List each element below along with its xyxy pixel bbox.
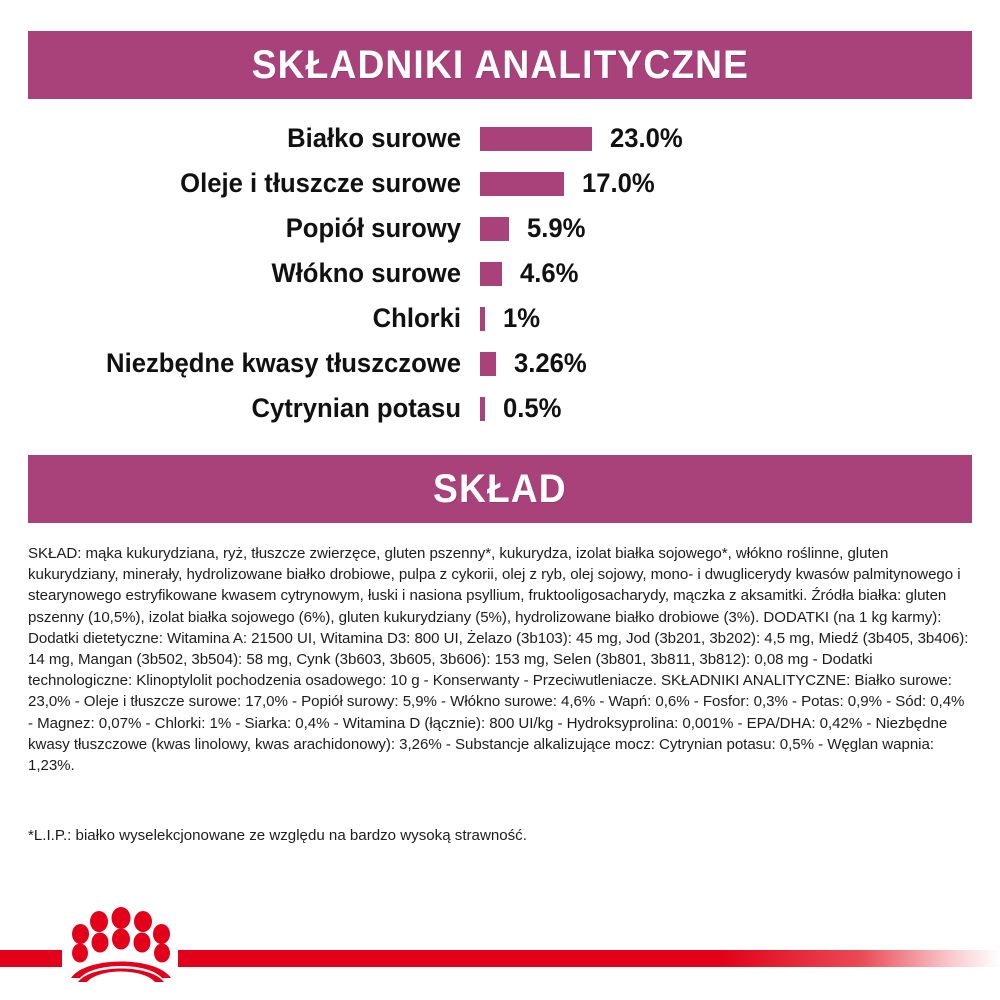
royal-canin-crown-icon <box>66 906 176 982</box>
chart-bar-container: 17.0% <box>480 168 1000 199</box>
brand-rule-left <box>0 950 62 967</box>
chart-row: Włókno surowe4.6% <box>0 251 1000 296</box>
analytical-constituents-title: SKŁADNIKI ANALITYCZNE <box>251 43 748 88</box>
chart-bar <box>480 397 485 421</box>
chart-row-value: 0.5% <box>503 393 561 424</box>
product-info-page: SKŁADNIKI ANALITYCZNE Białko surowe23.0%… <box>0 0 1000 1000</box>
chart-row: Oleje i tłuszcze surowe17.0% <box>0 161 1000 206</box>
chart-row-value: 1% <box>503 303 540 334</box>
chart-row: Popiół surowy5.9% <box>0 206 1000 251</box>
composition-footnote: *L.I.P.: białko wyselekcjonowane ze wzgl… <box>28 825 972 846</box>
chart-row-value: 23.0% <box>610 123 683 154</box>
chart-row-value: 4.6% <box>520 258 578 289</box>
brand-rule-right <box>178 950 1000 967</box>
chart-bar-container: 4.6% <box>480 258 1000 289</box>
chart-bar-container: 5.9% <box>480 213 1000 244</box>
chart-row-label: Cytrynian potasu <box>24 393 480 424</box>
chart-row-value: 5.9% <box>527 213 585 244</box>
chart-bar-container: 3.26% <box>480 348 1000 379</box>
chart-bar-container: 1% <box>480 303 1000 334</box>
chart-bar <box>480 172 564 196</box>
composition-header-band: SKŁAD <box>28 455 972 523</box>
chart-bar <box>480 127 592 151</box>
chart-row-value: 3.26% <box>514 348 587 379</box>
composition-title: SKŁAD <box>433 467 567 512</box>
chart-row-value: 17.0% <box>582 168 655 199</box>
chart-bar-container: 0.5% <box>480 393 1000 424</box>
chart-row-label: Popiół surowy <box>24 213 480 244</box>
brand-footer-bar <box>0 943 1000 969</box>
chart-bar <box>480 307 485 331</box>
chart-row-label: Chlorki <box>24 303 480 334</box>
chart-bar-container: 23.0% <box>480 123 1000 154</box>
chart-row: Białko surowe23.0% <box>0 116 1000 161</box>
chart-row: Cytrynian potasu0.5% <box>0 386 1000 431</box>
chart-row-label: Niezbędne kwasy tłuszczowe <box>24 348 480 379</box>
chart-bar <box>480 352 496 376</box>
chart-row-label: Oleje i tłuszcze surowe <box>24 168 480 199</box>
analytical-constituents-chart: Białko surowe23.0%Oleje i tłuszcze surow… <box>0 116 1000 431</box>
chart-bar <box>480 262 502 286</box>
analytical-constituents-header-band: SKŁADNIKI ANALITYCZNE <box>28 31 972 99</box>
chart-row: Niezbędne kwasy tłuszczowe3.26% <box>0 341 1000 386</box>
composition-body-text: SKŁAD: mąka kukurydziana, ryż, tłuszcze … <box>28 543 972 776</box>
chart-row-label: Białko surowe <box>24 123 480 154</box>
chart-bar <box>480 217 509 241</box>
chart-row-label: Włókno surowe <box>24 258 480 289</box>
chart-row: Chlorki1% <box>0 296 1000 341</box>
